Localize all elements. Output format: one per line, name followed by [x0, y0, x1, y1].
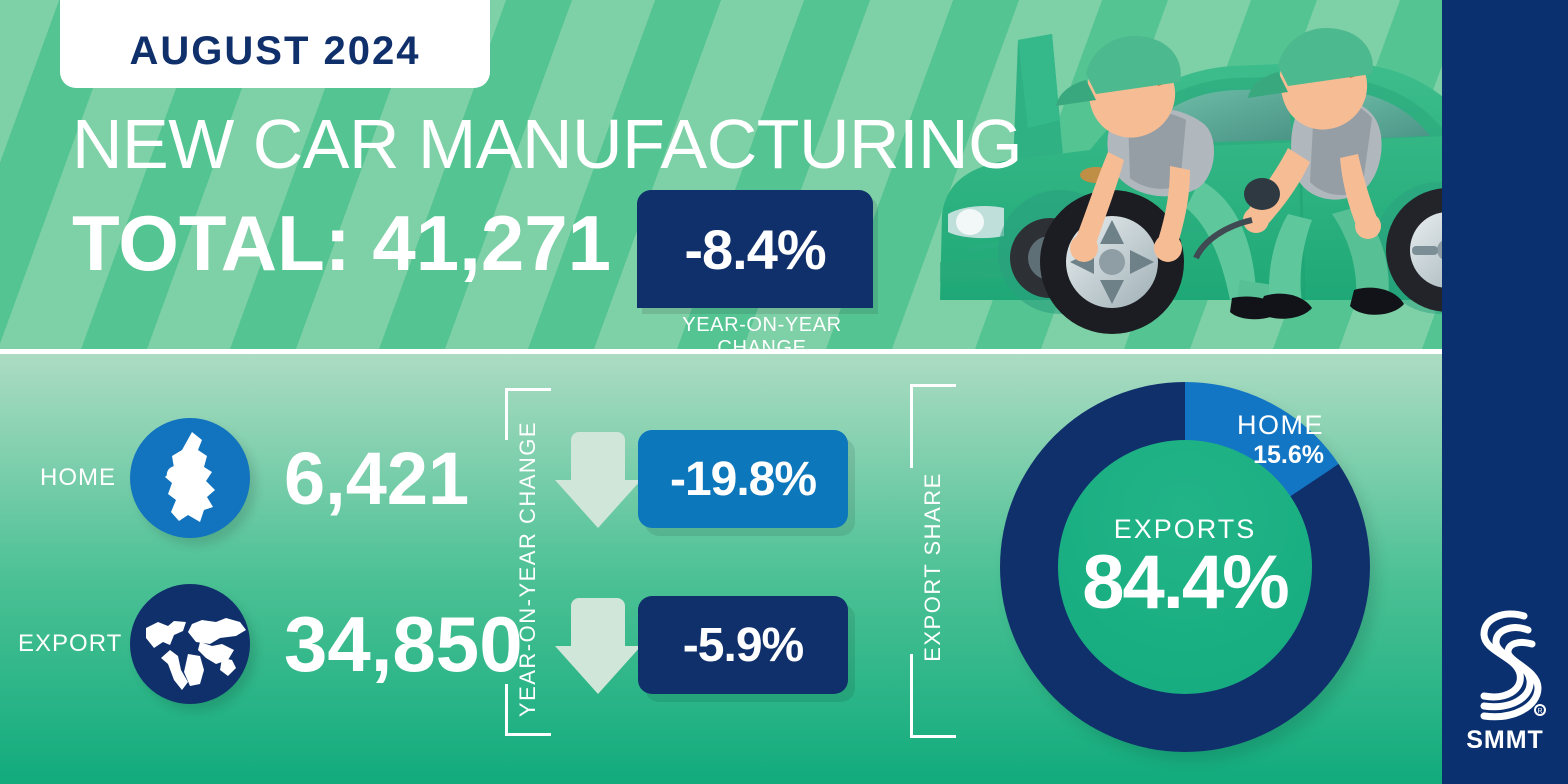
- yoy-total-badge: -8.4%: [637, 190, 873, 308]
- stat-row-home: HOME 6,421: [18, 418, 469, 538]
- infographic-root: AUGUST 2024 NEW CAR MANUFACTURING TOTAL:…: [0, 0, 1568, 784]
- stat-value-export: 34,850: [284, 599, 523, 690]
- yoy-export-badge: -5.9%: [638, 596, 848, 694]
- stat-label-home: HOME: [18, 464, 130, 492]
- uk-map-icon: [130, 418, 250, 538]
- arrow-down-icon: [553, 598, 643, 699]
- yoy-export-value: -5.9%: [683, 618, 803, 673]
- stat-label-export: EXPORT: [18, 630, 130, 658]
- stat-value-home: 6,421: [284, 436, 469, 521]
- svg-text:R: R: [1537, 708, 1542, 715]
- donut-center-value: 84.4%: [1082, 547, 1288, 619]
- yoy-home-value: -19.8%: [670, 452, 816, 507]
- month-badge: AUGUST 2024: [60, 0, 490, 88]
- smmt-logo-text: SMMT: [1442, 726, 1568, 755]
- donut-home-name: HOME: [1180, 410, 1324, 441]
- yoy-bracket-caption: YEAR-ON-YEAR CHANGE: [515, 421, 541, 717]
- stat-row-export: EXPORT 34,850: [18, 584, 523, 704]
- smmt-logo: R: [1462, 600, 1548, 730]
- yoy-home-badge: -19.8%: [638, 430, 848, 528]
- yoy-bracket: YEAR-ON-YEAR CHANGE: [505, 388, 551, 736]
- export-share-bracket: EXPORT SHARE: [910, 384, 956, 738]
- globe-icon: [130, 584, 250, 704]
- export-share-bracket-caption: EXPORT SHARE: [920, 472, 946, 662]
- donut-center: EXPORTS 84.4%: [1058, 440, 1312, 694]
- month-badge-label: AUGUST 2024: [130, 29, 421, 74]
- donut-home-value: 15.6%: [1180, 441, 1324, 470]
- yoy-total-value: -8.4%: [684, 217, 825, 282]
- donut-home-segment-label: HOME 15.6%: [1180, 410, 1324, 470]
- total-figure: TOTAL: 41,271: [72, 198, 611, 289]
- page-title: NEW CAR MANUFACTURING: [72, 104, 1022, 184]
- arrow-down-icon: [553, 432, 643, 533]
